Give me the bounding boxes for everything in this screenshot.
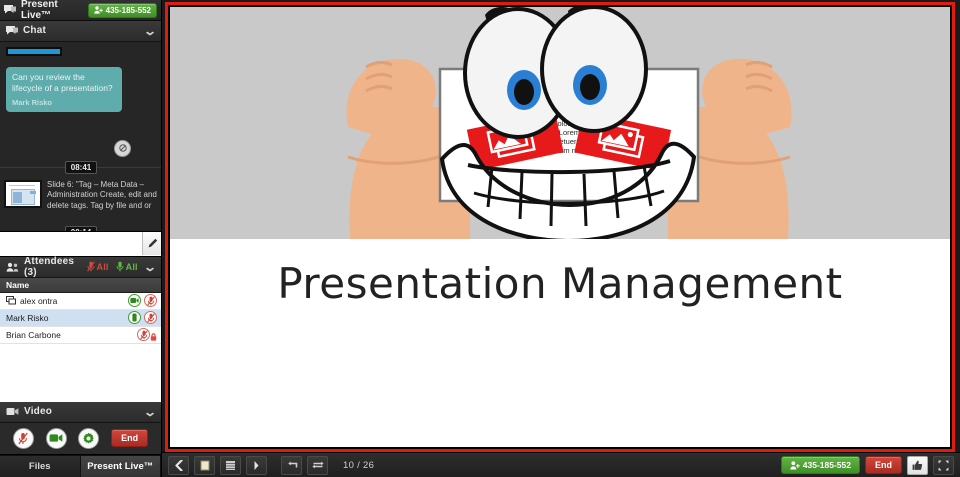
attendees-name-column: Name <box>6 280 29 290</box>
grid-icon[interactable] <box>220 456 241 475</box>
attendee-name: Brian Carbone <box>6 330 61 340</box>
mic-muted-icon[interactable] <box>137 328 150 341</box>
brand-title: Present Live™ <box>21 0 88 21</box>
chat-timestamp: 08:41 <box>65 161 97 174</box>
attendees-panel-header[interactable]: Attendees (3) All All ⌄ <box>0 257 161 278</box>
toolbar-phone-number: 435-185-552 <box>803 460 851 470</box>
chat-message-list[interactable]: Can you review the lifecycle of a presen… <box>0 42 161 232</box>
attendee-row-brian-carbone[interactable]: Brian Carbone <box>0 327 161 344</box>
thumbs-up-icon[interactable] <box>907 456 928 475</box>
chat-slide-text: Slide 6: "Tag – Meta Data – Administrati… <box>47 180 158 212</box>
chat-message-author: Mark Risko <box>12 97 116 108</box>
chat-message-bubble: Can you review the lifecycle of a presen… <box>6 67 122 112</box>
mic-muted-icon[interactable] <box>144 311 157 324</box>
toolbar-phone-pill[interactable]: 435-185-552 <box>781 456 860 474</box>
screen-share-frame: m no m euism tincr dunt ut Lore ips um d… <box>165 2 955 452</box>
attendee-name: alex ontra <box>20 296 57 306</box>
video-camera-icon[interactable] <box>128 294 141 307</box>
sidebar-tabs: Files Present Live™ <box>0 455 161 477</box>
attendees-list[interactable]: alex ontra Mark Risko <box>0 293 161 402</box>
presentation-stage: m no m euism tincr dunt ut Lore ips um d… <box>162 0 960 477</box>
attendees-column-header: Name <box>0 278 161 293</box>
speech-bubble-icon <box>6 26 18 36</box>
next-slide-button[interactable] <box>246 456 267 475</box>
people-icon <box>6 262 19 272</box>
mic-muted-icon[interactable] <box>144 294 157 307</box>
video-camera-icon[interactable] <box>46 428 67 449</box>
tab-present-live[interactable]: Present Live™ <box>81 455 162 477</box>
swap-arrow-icon[interactable] <box>307 456 328 475</box>
slide-title: Presentation Management <box>170 259 950 308</box>
gear-icon[interactable] <box>78 428 99 449</box>
end-call-button[interactable]: End <box>111 429 148 447</box>
expand-icon[interactable] <box>933 456 954 475</box>
slide-thumbnail-light[interactable] <box>4 180 42 208</box>
unmute-all-button[interactable]: All <box>116 261 138 272</box>
stage-toolbar: 10 / 26 435-185-552 End <box>162 452 960 477</box>
attendees-panel-title: Attendees (3) <box>24 256 87 278</box>
chat-input-row[interactable] <box>0 232 161 257</box>
prev-slide-button[interactable] <box>168 456 189 475</box>
chat-timestamp-divider: 08:41 <box>0 161 161 174</box>
lock-icon <box>150 333 157 341</box>
chat-progress-bar <box>6 47 62 56</box>
chevron-down-icon[interactable]: ⌄ <box>143 25 157 37</box>
phone-icon[interactable] <box>128 311 141 324</box>
sidebar-phone-number: 435-185-552 <box>106 6 151 15</box>
mic-muted-icon <box>87 261 95 272</box>
mute-all-label: All <box>97 262 109 272</box>
page-indicator: 10 / 26 <box>343 460 374 471</box>
chevron-down-icon[interactable]: ⌄ <box>143 406 157 418</box>
attendee-name: Mark Risko <box>6 313 49 323</box>
presenter-screen-icon <box>6 296 16 305</box>
meeting-app-window: Present Live™ 435-185-552 Chat ⌄ Can you… <box>0 0 960 477</box>
left-sidebar: Present Live™ 435-185-552 Chat ⌄ Can you… <box>0 0 162 477</box>
mic-icon <box>116 261 124 272</box>
attendee-row-mark-risko[interactable]: Mark Risko <box>0 310 161 327</box>
video-panel-header[interactable]: Video ⌄ <box>0 402 161 423</box>
chat-timestamp: 00:14 <box>65 226 97 232</box>
chat-input[interactable] <box>0 232 142 255</box>
chat-panel-header[interactable]: Chat ⌄ <box>0 21 161 42</box>
mic-muted-icon[interactable] <box>13 428 34 449</box>
slide-canvas[interactable]: m no m euism tincr dunt ut Lore ips um d… <box>170 7 950 447</box>
mute-slash-icon[interactable] <box>114 140 131 157</box>
chat-slide-message[interactable]: Slide 6: "Tag – Meta Data – Administrati… <box>0 180 161 212</box>
sidebar-phone-pill[interactable]: 435-185-552 <box>88 3 157 18</box>
unmute-all-label: All <box>126 262 138 272</box>
video-controls: End <box>0 423 161 456</box>
chevron-down-icon[interactable]: ⌄ <box>143 261 157 273</box>
speech-bubble-icon <box>4 5 16 15</box>
person-add-icon <box>94 6 103 14</box>
chat-panel-title: Chat <box>23 25 46 36</box>
chat-timestamp-divider: 00:14 <box>0 226 161 232</box>
brand-bar: Present Live™ 435-185-552 <box>0 0 161 21</box>
video-panel-title: Video <box>24 406 52 417</box>
person-add-icon <box>790 461 800 470</box>
chat-message-text: Can you review the lifecycle of a presen… <box>12 72 116 94</box>
tab-files[interactable]: Files <box>0 455 81 477</box>
pencil-icon[interactable] <box>142 232 161 255</box>
attendee-row-alex-ontra[interactable]: alex ontra <box>0 293 161 310</box>
undo-arrow-icon[interactable] <box>281 456 302 475</box>
note-icon[interactable] <box>194 456 215 475</box>
flexing-arms-smiley-icon: m no m euism tincr dunt ut Lore ips um d… <box>170 7 950 239</box>
toolbar-end-button[interactable]: End <box>865 456 902 474</box>
mute-all-button[interactable]: All <box>87 261 109 272</box>
video-camera-icon <box>6 407 19 416</box>
